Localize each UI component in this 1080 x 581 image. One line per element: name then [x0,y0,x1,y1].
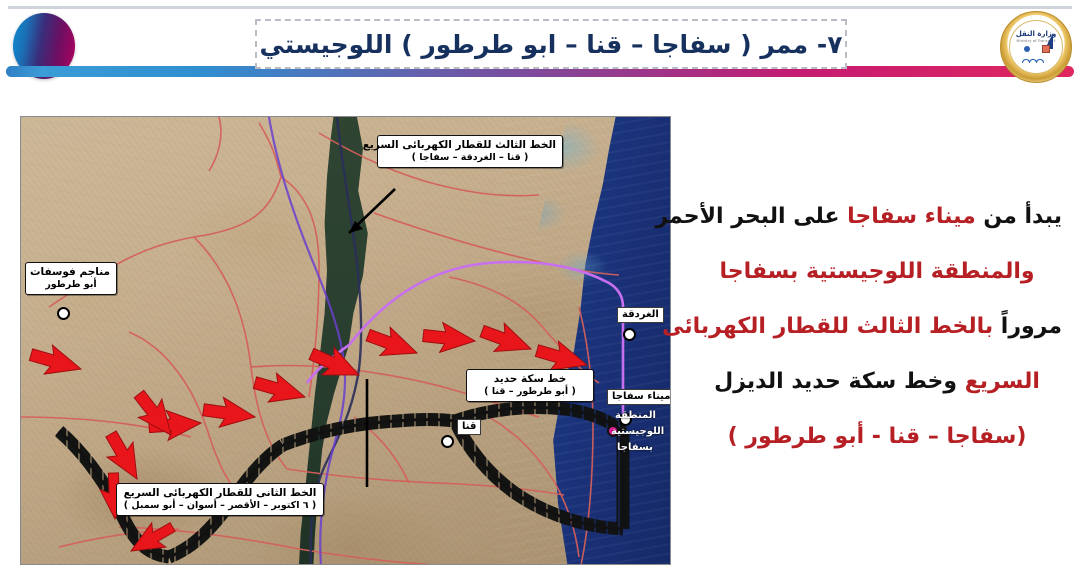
callout-line2: ( قنا – الغردقة – سفاجا ) [384,152,556,164]
map-canvas: الغردقة ميناء سفاجا المنطقة اللوجيستية ب… [21,117,670,564]
city-marker-abu-tartour [57,307,70,320]
callout-abu-tartour-phosphate-mines: مناجم فوسفات أبو طرطور [25,262,117,295]
page-title: ٧- ممر ( سفاجا – قنا – ابو طرطور ) اللوج… [260,30,843,59]
logo-emblem-icon [1020,45,1052,63]
desc-4-part-2: وخط سكة حديد الديزل [714,369,965,394]
callout-line2: ( ٦ اكتوبر – الأقصر – أسوان – أبو سمبل ) [123,500,317,512]
callout-diesel-railway-line: خط سكة حديد ( أبو طرطور – قنا ) [466,369,594,402]
map-label-safaga-logistics-l1: المنطقة [611,409,660,423]
desc-4-part-1: السريع [965,369,1040,394]
city-marker-qena [441,435,454,448]
callout-line1: مناجم فوسفات [32,266,110,279]
desc-1-part-1: يبدأ من [976,204,1062,229]
map-label-safaga-port: ميناء سفاجا [607,389,671,405]
callout-line1: الخط الثالث للقطار الكهربائى السريع [384,139,556,152]
map-label-safaga-logistics-l3: بسفاجا [613,441,657,455]
description-line-5: (سفاجا – قنا - أبو طرطور ) [692,425,1062,448]
desc-5-part-1: (سفاجا – قنا - أبو طرطور ) [728,424,1027,449]
logo-wave-icon [1022,55,1048,63]
desc-3-part-2: بالخط الثالث للقطار الكهربائى [662,314,993,339]
corridor-description: يبدأ من ميناء سفاجا على البحر الأحمر وال… [692,205,1062,448]
callout-line2: أبو طرطور [32,279,110,291]
logo-dot-icon [1024,46,1030,52]
header-top-rule [8,6,1072,9]
desc-1-part-2: ميناء سفاجا [847,204,976,229]
callout-line2: ( أبو طرطور – قنا ) [473,386,587,398]
city-marker-hurghada [623,328,636,341]
slide-root: ٧- ممر ( سفاجا – قنا – ابو طرطور ) اللوج… [0,0,1080,581]
slide-header: ٧- ممر ( سفاجا – قنا – ابو طرطور ) اللوج… [0,0,1080,92]
map-label-safaga-logistics-l2: اللوجيستية [607,425,668,439]
callout-line1: الخط الثانى للقطار الكهربائى السريع [123,487,317,500]
callout-line1: خط سكة حديد [473,373,587,386]
description-line-1: يبدأ من ميناء سفاجا على البحر الأحمر [692,205,1062,228]
corridor-map: الغردقة ميناء سفاجا المنطقة اللوجيستية ب… [20,116,671,565]
callout-second-electric-train-line: الخط الثانى للقطار الكهربائى السريع ( ٦ … [116,483,324,516]
logo-inner-disc: وزارة النقل Ministry of Transport [1009,20,1063,74]
logo-square-icon [1042,45,1050,53]
callout-third-electric-train-line: الخط الثالث للقطار الكهربائى السريع ( قن… [377,135,563,168]
description-line-2: والمنطقة اللوجيستية بسفاجا [692,260,1062,283]
description-line-4: السريع وخط سكة حديد الديزل [692,370,1062,393]
page-title-box: ٧- ممر ( سفاجا – قنا – ابو طرطور ) اللوج… [255,19,847,69]
description-line-3: مروراً بالخط الثالث للقطار الكهربائى [692,315,1062,338]
desc-2-part-1: والمنطقة اللوجيستية بسفاجا [719,259,1034,284]
desc-3-part-1: مروراً [993,314,1062,339]
desc-1-part-3: على البحر الأحمر [655,204,847,229]
ministry-of-transport-logo: وزارة النقل Ministry of Transport [1000,11,1072,83]
callout-leader-lines [259,189,395,513]
map-label-hurghada: الغردقة [617,307,664,323]
map-label-qena: قنا [457,419,481,435]
